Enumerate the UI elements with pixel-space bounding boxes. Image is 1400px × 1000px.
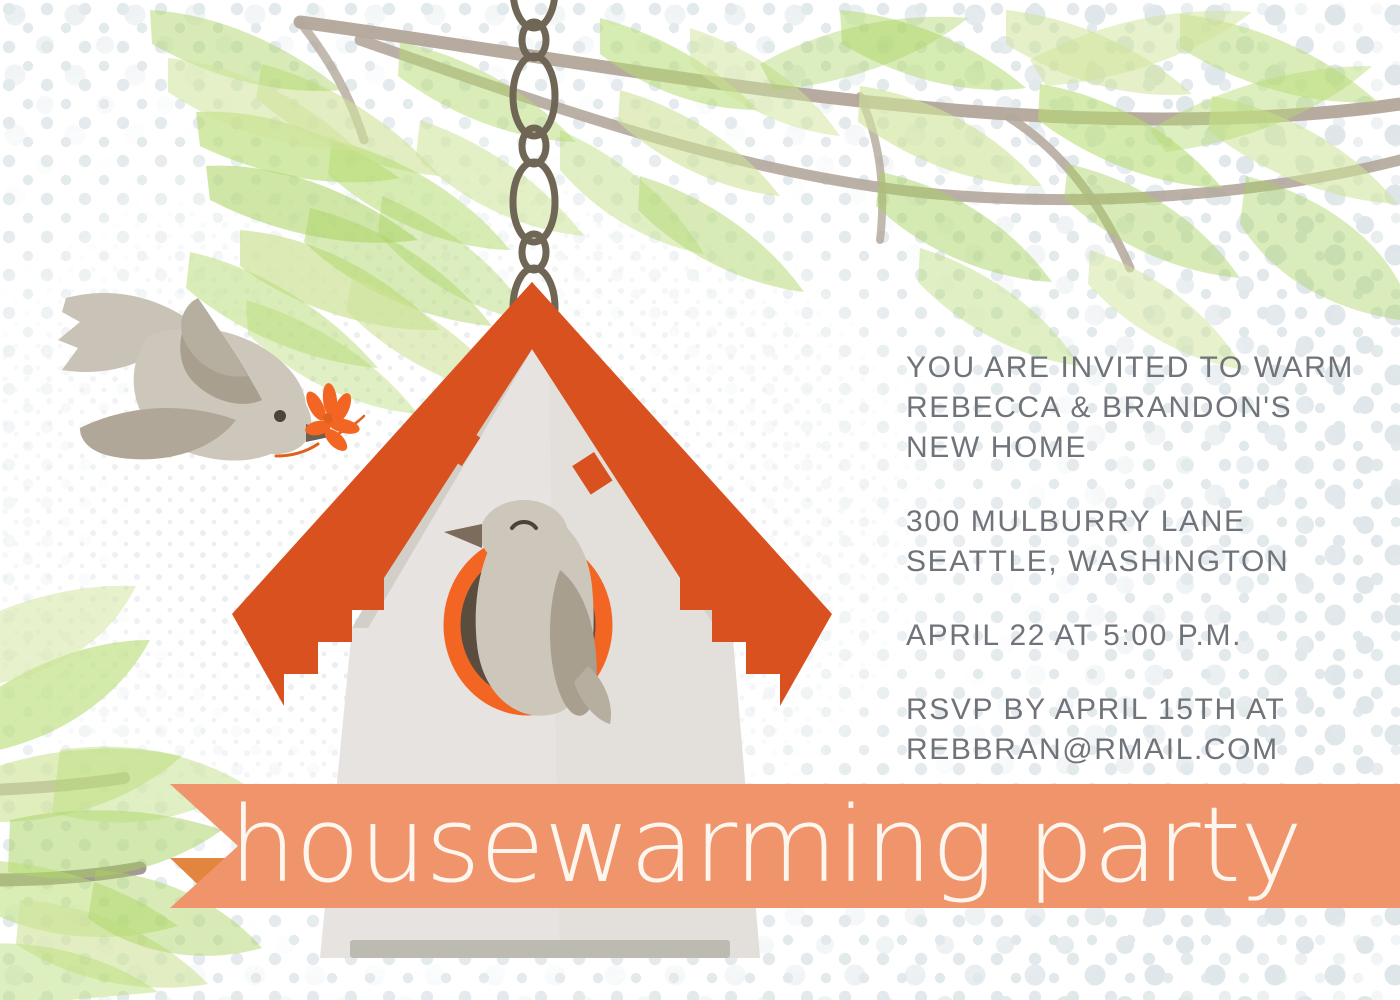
invitation-paragraph-address: 300 MULBURRY LANE SEATTLE, WASHINGTON [906, 502, 1376, 582]
invitation-line: NEW HOME [906, 428, 1376, 468]
invitation-paragraph-greeting: YOU ARE INVITED TO WARM REBECCA & BRANDO… [906, 348, 1376, 468]
invitation-line: REBBRAN@RMAIL.COM [906, 730, 1376, 770]
invitation-paragraph-rsvp: RSVP BY APRIL 15TH AT REBBRAN@RMAIL.COM [906, 690, 1376, 770]
invitation-text-block: YOU ARE INVITED TO WARM REBECCA & BRANDO… [906, 348, 1376, 770]
invitation-line: 300 MULBURRY LANE [906, 502, 1376, 542]
invitation-line: RSVP BY APRIL 15TH AT [906, 690, 1376, 730]
invitation-line: REBECCA & BRANDON'S [906, 388, 1376, 428]
invitation-paragraph-datetime: APRIL 22 AT 5:00 P.M. [906, 616, 1376, 656]
invitation-line: YOU ARE INVITED TO WARM [906, 348, 1376, 388]
invitation-line: SEATTLE, WASHINGTON [906, 542, 1376, 582]
banner-shape [170, 784, 1400, 908]
invitation-card: housewarming party YOU ARE INVITED TO WA… [0, 0, 1400, 1000]
invitation-line: APRIL 22 AT 5:00 P.M. [906, 616, 1376, 656]
